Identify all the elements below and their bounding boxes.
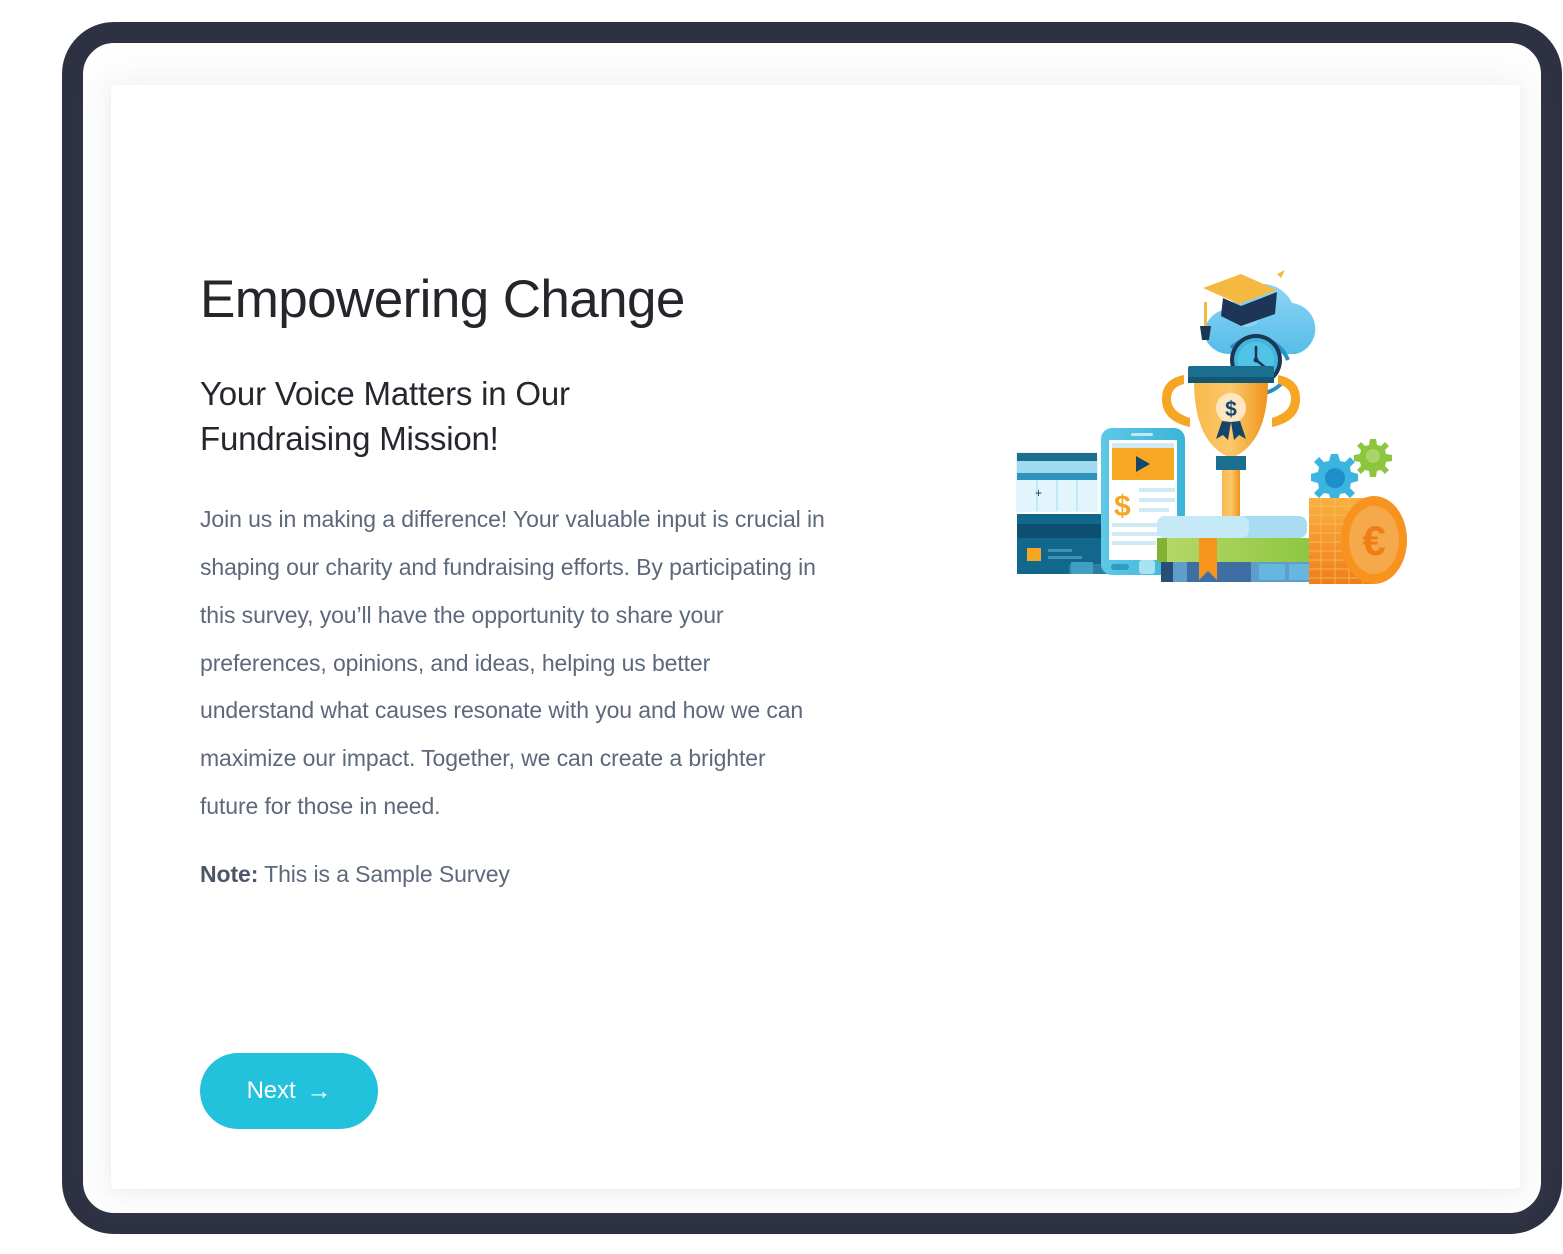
device-frame: Empowering Change Your Voice Matters in … — [62, 22, 1562, 1234]
next-button-label: Next — [247, 1077, 296, 1105]
survey-card: Empowering Change Your Voice Matters in … — [111, 85, 1520, 1189]
note-line: Note: This is a Sample Survey — [200, 861, 880, 888]
svg-text:+: + — [1035, 486, 1042, 500]
green-gear-icon — [1354, 439, 1392, 477]
note-text: This is a Sample Survey — [264, 861, 510, 887]
fundraising-trophy-illustration: + — [991, 240, 1431, 600]
svg-text:$: $ — [1114, 490, 1131, 523]
books-icon — [1157, 516, 1321, 582]
svg-text:€: € — [1362, 517, 1385, 564]
page-subtitle: Your Voice Matters in Our Fundraising Mi… — [200, 372, 670, 462]
blue-gear-icon — [1311, 454, 1358, 501]
svg-text:$: $ — [1225, 398, 1237, 421]
browser-window-icon: + — [1017, 453, 1097, 511]
survey-intro-content: Empowering Change Your Voice Matters in … — [200, 270, 880, 888]
page-title: Empowering Change — [200, 270, 880, 329]
note-label: Note: — [200, 861, 258, 887]
intro-paragraph: Join us in making a difference! Your val… — [200, 496, 830, 831]
next-button[interactable]: Next → — [200, 1053, 378, 1129]
arrow-right-icon: → — [307, 1079, 332, 1104]
coin-stack-icon: € — [1309, 496, 1407, 584]
